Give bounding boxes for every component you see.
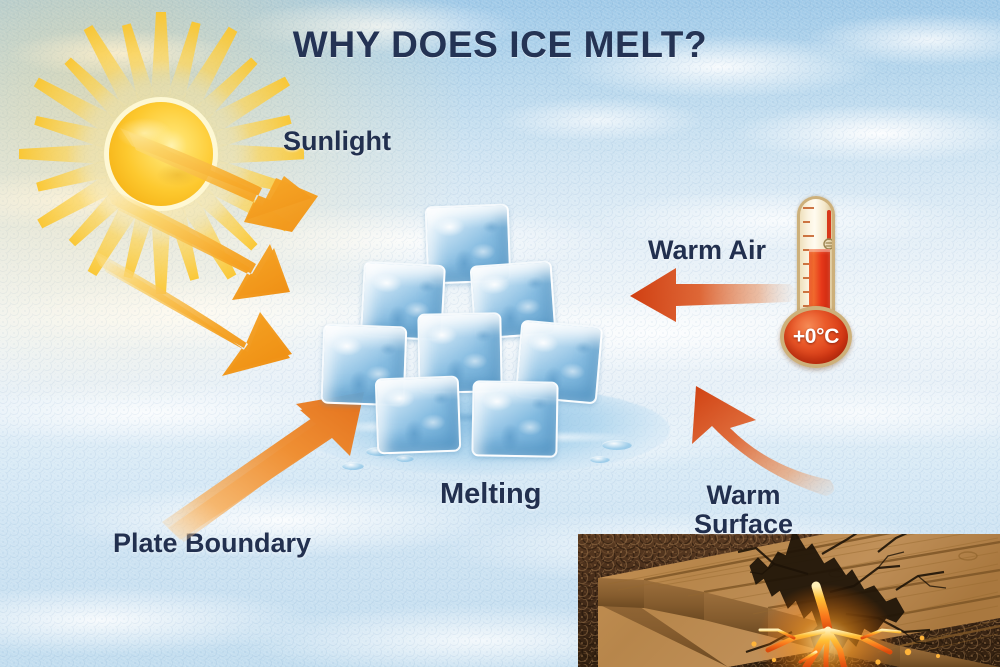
warm-air-arrow [630,268,795,322]
plate-boundary-arrow [162,392,364,542]
ice-cube [471,380,558,457]
warm-surface-arrow [692,386,834,496]
infographic-canvas: WHY DOES ICE MELT? [0,0,1000,667]
ice-cube [375,376,462,455]
